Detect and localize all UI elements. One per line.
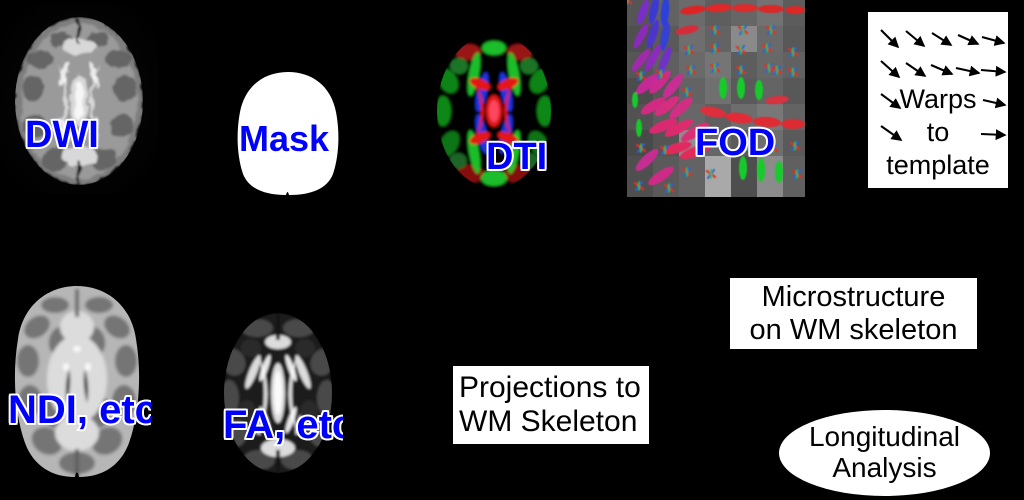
projections-box[interactable]: Projections to WM Skeleton [453,366,649,444]
microstructure-line-2: on WM skeleton [750,314,958,346]
longitudinal-line-1: Longitudinal [809,422,960,453]
panel-dwi[interactable]: DWI [0,4,158,194]
fod-image [627,0,805,197]
microstructure-line-1: Microstructure [762,281,946,313]
panel-label-ndi: NDI, etc. [8,388,151,433]
fa-image [213,308,343,480]
longitudinal-analysis-ellipse[interactable]: Longitudinal Analysis [779,410,990,496]
panel-mask[interactable]: Mask [232,70,344,196]
projections-line-2: WM Skeleton [459,405,637,439]
dwi-image [0,4,158,194]
panel-label-fa: FA, etc. [223,403,343,448]
pipeline-figure: DWI Mask [0,0,1024,500]
panel-fa[interactable]: FA, etc. [213,308,343,480]
panel-label-fod: FOD [695,122,775,165]
panel-ndi[interactable]: NDI, etc. [3,283,151,480]
microstructure-box[interactable]: Microstructure on WM skeleton [730,278,977,349]
warps-line-3: template [868,150,1008,181]
panel-label-dwi: DWI [25,114,99,157]
warps-to-template-box[interactable]: Warps to template [868,12,1008,188]
panel-dti[interactable]: DTI [428,26,560,196]
longitudinal-line-2: Analysis [832,453,936,484]
panel-label-dti: DTI [486,136,547,179]
panel-label-mask: Mask [239,118,329,160]
projections-line-1: Projections to [459,371,641,405]
warps-line-1: Warps [868,84,1008,115]
warps-line-2: to [868,117,1008,148]
panel-fod[interactable]: FOD [627,0,805,197]
ndi-image [3,283,151,480]
